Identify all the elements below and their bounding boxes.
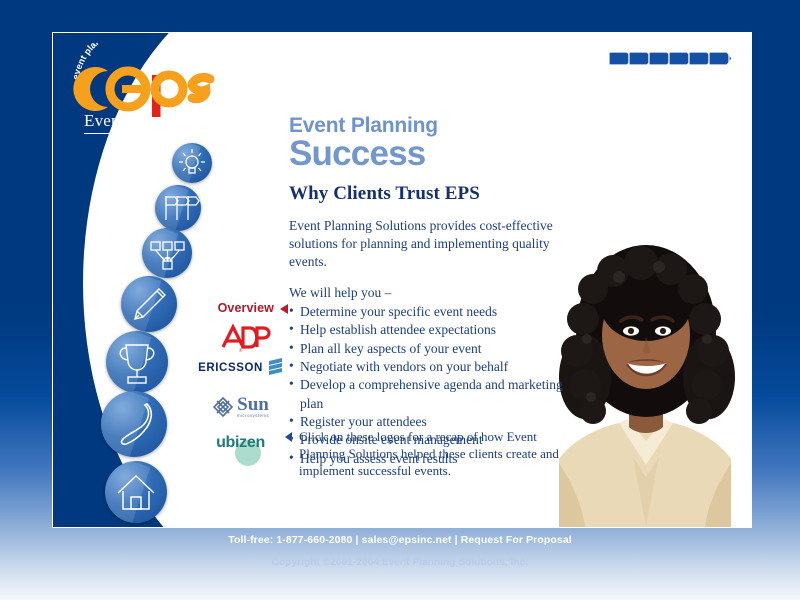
slide-canvas: event planning solutions, inc. Event Pla… (0, 0, 800, 600)
pencil-icon (121, 276, 177, 332)
flag-row-icon (603, 39, 733, 129)
page-title: Why Clients Trust EPS (289, 183, 589, 205)
ubizen-label: ubizen (193, 434, 288, 452)
client-logo-adp[interactable]: ® (193, 320, 288, 353)
tagline-plain: Event Planning (84, 111, 196, 130)
overview-label: Overview (218, 301, 274, 315)
sidebar-item-sitemap[interactable] (142, 228, 192, 278)
sidebar-item-trophy[interactable] (106, 331, 168, 393)
ericsson-mark-icon (268, 358, 283, 378)
footer-copyright: Copyright ©2001-2004 Event Planning Solu… (0, 557, 800, 568)
content-frame: event planning solutions, inc. Event Pla… (52, 32, 752, 528)
ericsson-label: ERICSSON (198, 362, 263, 374)
tagline-italic: Simplified (196, 111, 267, 130)
phone-icon (101, 391, 167, 457)
client-logo-column: Overview ® ERICSSON (193, 301, 288, 464)
trophy-icon (106, 331, 168, 393)
sun-sublabel: microsystems (237, 413, 269, 418)
left-triangle-icon (280, 304, 288, 314)
sitemap-icon (142, 228, 192, 278)
client-logo-ericsson[interactable]: ERICSSON (193, 358, 288, 391)
benefit-list-item: Negotiate with vendors on your behalf (289, 358, 574, 376)
sidebar-item-lightbulb[interactable] (172, 143, 212, 183)
headline-block: Event Planning Success (289, 115, 579, 171)
benefit-list-item: Develop a comprehensive agenda and marke… (289, 376, 574, 413)
lead-paragraph: Event Planning Solutions provides cost-e… (289, 217, 574, 271)
intro-line: We will help you – (289, 284, 574, 302)
footer-rfp-link[interactable]: Request For Proposal (461, 534, 572, 546)
flags-icon (155, 185, 201, 231)
client-logo-sun[interactable]: Sun microsystems (193, 396, 288, 429)
logo-instruction-caption: Click on these logos for a recap of how … (285, 429, 574, 480)
sun-label: Sun (237, 396, 269, 413)
headline-main: Success (289, 136, 579, 171)
footer: Toll-free: 1-877-660-2080 | sales@epsinc… (0, 534, 800, 568)
benefit-list-item: Plan all key aspects of your event (289, 340, 574, 358)
home-icon (105, 461, 167, 523)
adp-logo-icon: ® (193, 320, 288, 353)
overview-link[interactable]: Overview (193, 301, 288, 315)
client-logo-ubizen[interactable]: ubizen (193, 434, 288, 464)
footer-separator-1: | (352, 534, 361, 546)
benefit-list-item: Help establish attendee expectations (289, 321, 574, 339)
sidebar-item-phone[interactable] (101, 391, 167, 457)
sidebar-item-pencil[interactable] (121, 276, 177, 332)
footer-separator-2: | (452, 534, 461, 546)
lightbulb-icon (172, 143, 212, 183)
sun-mark-icon (212, 396, 234, 418)
sidebar-item-home[interactable] (105, 461, 167, 523)
tagline: Event Planning Simplified (84, 111, 259, 134)
footer-email-link[interactable]: sales@epsinc.net (362, 534, 452, 546)
eps-logo[interactable]: event planning solutions, inc. Event Pla… (70, 43, 260, 143)
sidebar-item-flags[interactable] (155, 185, 201, 231)
footer-tollfree: Toll-free: 1-877-660-2080 (228, 534, 352, 546)
caption-text: Click on these logos for a recap of how … (299, 429, 559, 478)
footer-contact-line: Toll-free: 1-877-660-2080 | sales@epsinc… (0, 534, 800, 546)
benefit-list-item: Determine your specific event needs (289, 303, 574, 321)
